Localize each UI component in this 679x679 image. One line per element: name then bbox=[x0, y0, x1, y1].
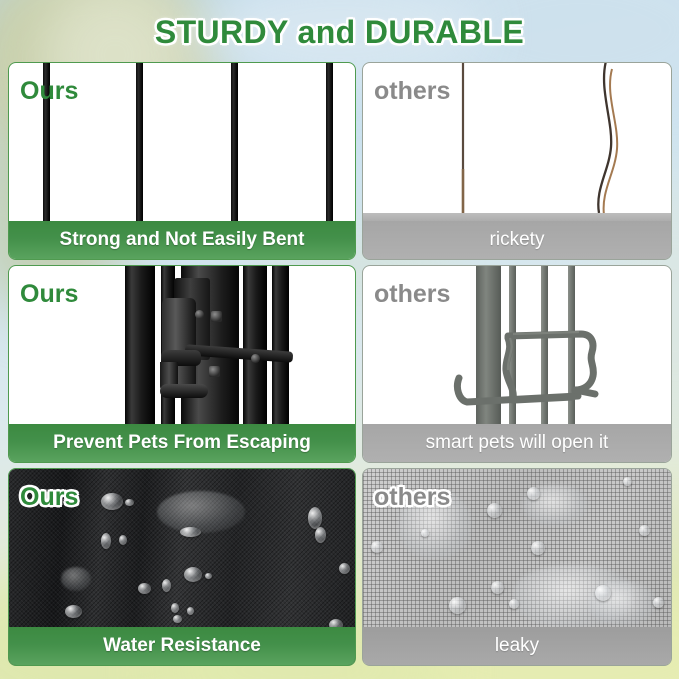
ours-label: Ours bbox=[20, 282, 78, 307]
ours-label: Ours bbox=[20, 485, 78, 510]
ours-caption-strength: Strong and Not Easily Bent bbox=[9, 221, 355, 259]
others-panel-strength: others rickety bbox=[362, 62, 672, 260]
others-caption-water: leaky bbox=[363, 627, 671, 665]
others-label: others bbox=[374, 485, 450, 510]
others-caption-latch: smart pets will open it bbox=[363, 424, 671, 462]
others-caption-strength: rickety bbox=[363, 221, 671, 259]
others-label: others bbox=[374, 282, 450, 307]
others-panel-latch: others smart pets will open it bbox=[362, 265, 672, 463]
page-title: STURDY and DURABLE bbox=[0, 14, 679, 51]
ours-label: Ours bbox=[20, 79, 78, 104]
comparison-row-strength: Ours Strong and Not Easily Bent others r… bbox=[8, 62, 672, 260]
comparison-grid: Ours Strong and Not Easily Bent others r… bbox=[8, 62, 672, 672]
comparison-row-water: Ours Water Resistance bbox=[8, 468, 672, 666]
ours-panel-strength: Ours Strong and Not Easily Bent bbox=[8, 62, 356, 260]
others-label: others bbox=[374, 79, 450, 104]
comparison-row-latch: Ours Prevent Pets From Escaping bbox=[8, 265, 672, 463]
ours-panel-water: Ours Water Resistance bbox=[8, 468, 356, 666]
infographic-root: STURDY and DURABLE Ours Strong and Not E… bbox=[0, 0, 679, 679]
ours-caption-latch: Prevent Pets From Escaping bbox=[9, 424, 355, 462]
ours-panel-latch: Ours Prevent Pets From Escaping bbox=[8, 265, 356, 463]
others-panel-water: others leaky bbox=[362, 468, 672, 666]
ours-caption-water: Water Resistance bbox=[9, 627, 355, 665]
